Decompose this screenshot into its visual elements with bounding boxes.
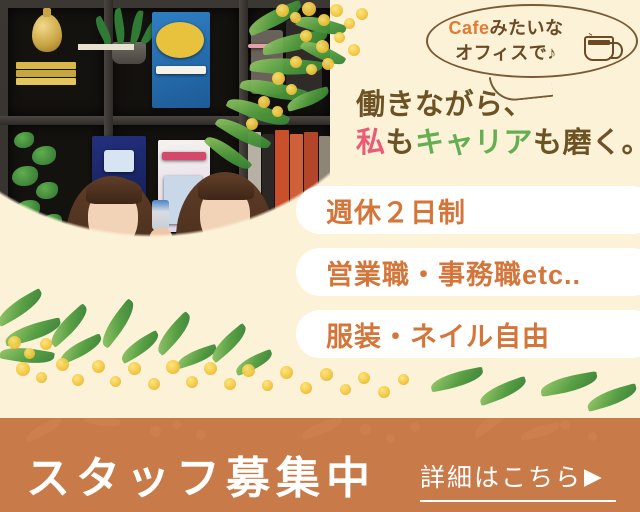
tagline-particle-1: も: [386, 127, 416, 159]
speech-bubble-line1-jp: みたいな: [490, 18, 564, 38]
benefit-pill-holidays[interactable]: 週休２日制: [296, 186, 640, 234]
cta-link-label: 詳細はこちら: [420, 458, 582, 494]
cta-details-link[interactable]: 詳細はこちら ▶: [420, 458, 616, 502]
speech-bubble-line2: オフィスで♪: [455, 43, 557, 63]
cta-title: スタッフ募集中: [26, 442, 376, 506]
speech-bubble-cafe-word: Cafe: [448, 18, 489, 38]
benefit-pill-dresscode[interactable]: 服装・ネイル自由: [296, 310, 640, 358]
benefit-label: 週休２日制: [326, 191, 466, 230]
tagline: 働きながら、 私もキャリアも磨く。: [356, 86, 640, 163]
speech-bubble-text: Cafeみたいな オフィスで♪: [436, 16, 576, 66]
cta-bar[interactable]: スタッフ募集中 詳細はこちら ▶: [0, 418, 640, 512]
tagline-word-career: キャリア: [415, 127, 533, 159]
benefit-label: 服装・ネイル自由: [326, 315, 550, 354]
benefit-pill-positions[interactable]: 営業職・事務職etc..: [296, 248, 640, 296]
tagline-line-2: 私もキャリアも磨く。: [356, 124, 640, 162]
arrow-right-icon: ▶: [584, 465, 602, 488]
recruitment-banner: Cafeみたいな オフィスで♪ 〟 働きながら、 私もキャリアも磨く。 週休２日…: [0, 0, 640, 512]
tagline-word-watashi: 私: [356, 127, 386, 159]
tagline-line-1: 働きながら、: [356, 86, 640, 124]
tagline-tail: も磨く。: [533, 127, 640, 159]
benefit-label: 営業職・事務職etc..: [326, 253, 581, 292]
coffee-cup-icon: [584, 36, 614, 61]
